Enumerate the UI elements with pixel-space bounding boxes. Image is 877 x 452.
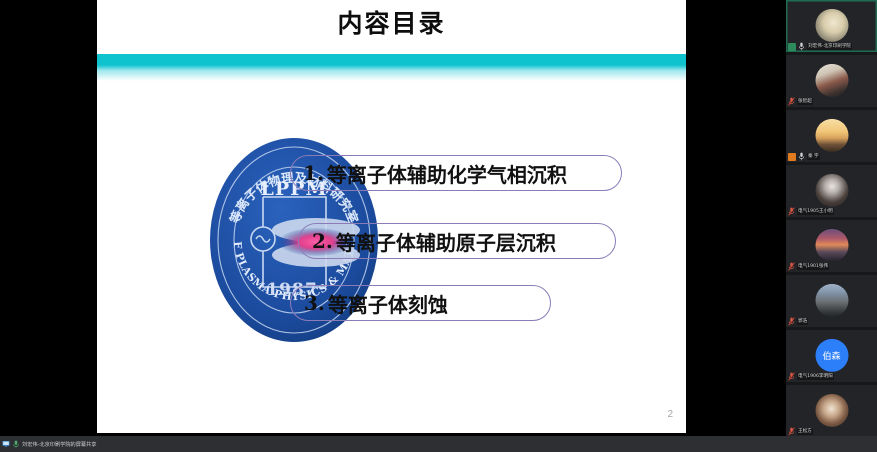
avatar (815, 394, 848, 427)
avatar (815, 284, 848, 317)
avatar (815, 64, 848, 97)
tile-badges: 秦 宇 (788, 152, 820, 161)
tile-badges: 电气1905王小明 (788, 207, 834, 216)
microphone-muted-icon (788, 427, 795, 436)
outline-item-2-number: 2. (312, 229, 333, 253)
shared-screen-region[interactable]: 内容目录 (0, 0, 786, 436)
tile-badges: 电气1901张伟 (788, 262, 829, 271)
microphone-muted-icon (788, 372, 795, 381)
participant-tile[interactable]: 张智超 (786, 55, 877, 107)
video-on-icon (788, 43, 796, 51)
participant-tile[interactable]: 秦 宇 (786, 110, 877, 162)
video-on-icon (788, 153, 796, 161)
participant-name: 电气1906李明阳 (797, 373, 834, 380)
bottom-status-bar: 刘宏伟-北京印刷学院的屏幕共享 (0, 436, 877, 452)
participant-tile[interactable]: 王松方 (786, 385, 877, 436)
avatar: 伯森 (815, 339, 848, 372)
tile-badges: 刘宏伟-北京印刷学院 (788, 42, 852, 51)
outline-item-2[interactable]: 2. 等离子体辅助原子层沉积 (298, 223, 616, 259)
tile-badges: 电气1906李明阳 (788, 372, 834, 381)
microphone-icon (12, 440, 20, 448)
tile-badges: 郭浩 (788, 317, 808, 326)
slide-page-number: 2 (667, 409, 673, 420)
outline-item-1-label: 等离子体辅助化学气相沉积 (327, 159, 567, 188)
outline-item-3-number: 3. (304, 291, 325, 315)
participant-name: 张智超 (797, 98, 813, 105)
outline-item-1-number: 1. (303, 161, 324, 185)
participant-name: 郭浩 (797, 318, 808, 325)
avatar (815, 174, 848, 207)
share-status-text: 刘宏伟-北京印刷学院的屏幕共享 (22, 441, 97, 448)
outline-item-3[interactable]: 3. 等离子体刻蚀 (290, 285, 551, 321)
avatar (815, 229, 848, 262)
presentation-slide: 内容目录 (97, 0, 686, 433)
avatar (815, 9, 848, 42)
participant-tile[interactable]: 郭浩 (786, 275, 877, 327)
participant-name: 王松方 (797, 428, 813, 435)
title-accent-band (97, 54, 686, 65)
avatar (815, 119, 848, 152)
title-accent-band-fade (97, 65, 686, 81)
participant-name: 电气1905王小明 (797, 208, 834, 215)
outline-item-2-label: 等离子体辅助原子层沉积 (336, 227, 556, 256)
microphone-icon (798, 42, 805, 51)
microphone-muted-icon (788, 207, 795, 216)
monitor-icon (2, 440, 10, 448)
tile-badges: 王松方 (788, 427, 813, 436)
participant-tile[interactable]: 电气1905王小明 (786, 165, 877, 217)
participant-tile[interactable]: 电气1901张伟 (786, 220, 877, 272)
participant-name: 刘宏伟-北京印刷学院 (807, 43, 852, 50)
page-title: 内容目录 (97, 4, 686, 40)
outline-item-3-label: 等离子体刻蚀 (328, 289, 448, 318)
participant-video-strip[interactable]: 刘宏伟-北京印刷学院 张智超 (786, 0, 877, 436)
microphone-muted-icon (788, 317, 795, 326)
outline-item-1[interactable]: 1. 等离子体辅助化学气相沉积 (290, 155, 622, 191)
participant-tile[interactable]: 伯森 电气1906李明阳 (786, 330, 877, 382)
tile-badges: 张智超 (788, 97, 813, 106)
avatar-initials: 伯森 (815, 339, 848, 372)
conference-window: 内容目录 (0, 0, 877, 452)
participant-name: 秦 宇 (807, 153, 820, 160)
microphone-muted-icon (788, 97, 795, 106)
microphone-icon (798, 152, 805, 161)
participant-name: 电气1901张伟 (797, 263, 829, 270)
microphone-muted-icon (788, 262, 795, 271)
participant-tile[interactable]: 刘宏伟-北京印刷学院 (786, 0, 877, 52)
